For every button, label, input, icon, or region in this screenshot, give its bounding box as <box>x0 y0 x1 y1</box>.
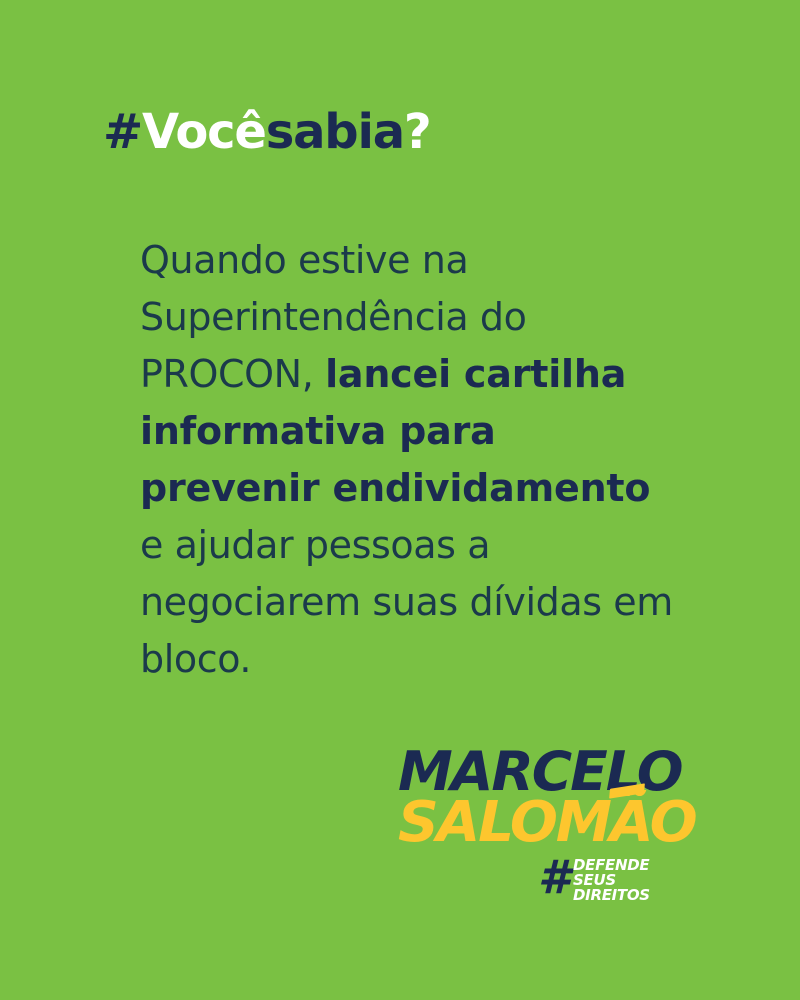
headline-hash-symbol: # <box>103 104 142 160</box>
logo-last-name: SALOMÃO <box>398 798 705 847</box>
body-paragraph: Quando estive na Superintendência do PRO… <box>140 232 680 688</box>
body-segment-outro: e ajudar pessoas a negociarem suas dívid… <box>140 523 673 681</box>
headline-word-sabia: sabia <box>266 104 404 160</box>
tagline-line-direitos: DIREITOS <box>573 888 650 903</box>
tagline-hash-icon: # <box>538 856 568 900</box>
headline: #Vocêsabia? <box>103 108 431 156</box>
tagline-words: DEFENDE SEUS DIREITOS <box>573 856 650 903</box>
campaign-tagline: # DEFENDE SEUS DIREITOS <box>538 856 650 903</box>
logo-first-name: MARCELO <box>398 748 708 796</box>
headline-question-mark: ? <box>404 104 431 160</box>
poster-canvas: #Vocêsabia? Quando estive na Superintend… <box>0 0 800 1000</box>
headline-word-voce: Você <box>142 104 266 160</box>
logo-last-name-wrapper: SALOMÃO <box>398 798 702 847</box>
candidate-logo: MARCELO SALOMÃO <box>398 748 702 847</box>
